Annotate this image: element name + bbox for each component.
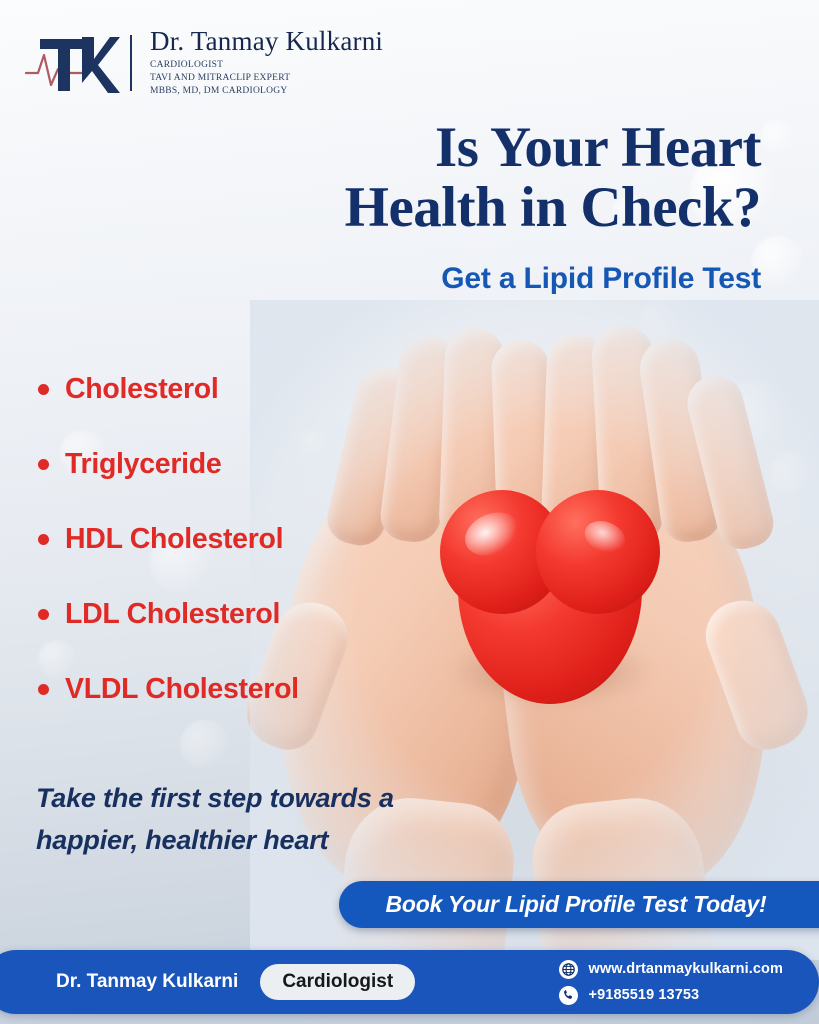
phone-contact[interactable]: +9185519 13753	[559, 986, 783, 1005]
footer-doctor-name: Dr. Tanmay Kulkarni	[56, 971, 238, 993]
bullet-dot-icon	[38, 384, 49, 395]
list-item: LDL Cholesterol	[38, 577, 438, 652]
list-item: VLDL Cholesterol	[38, 652, 438, 727]
list-item: Triglyceride	[38, 427, 438, 502]
list-item-label: VLDL Cholesterol	[65, 673, 299, 706]
headline-line-1: Is Your Heart	[241, 118, 761, 178]
tk-monogram-ecg-logo	[24, 29, 120, 97]
list-item-label: LDL Cholesterol	[65, 598, 280, 631]
tagline-line-2: happier, healthier heart	[36, 820, 556, 862]
list-item: Cholesterol	[38, 352, 438, 427]
cta-label: Book Your Lipid Profile Test Today!	[385, 891, 766, 918]
bullet-dot-icon	[38, 534, 49, 545]
list-item-label: HDL Cholesterol	[65, 523, 283, 556]
logo-divider	[130, 35, 132, 91]
page-subtitle: Get a Lipid Profile Test	[241, 262, 761, 296]
website-text: www.drtanmaykulkarni.com	[589, 961, 783, 977]
phone-icon	[559, 986, 578, 1005]
phone-text: +9185519 13753	[589, 987, 700, 1003]
list-item-label: Cholesterol	[65, 373, 218, 406]
website-contact[interactable]: www.drtanmaykulkarni.com	[559, 960, 783, 979]
footer-bar: Dr. Tanmay Kulkarni Cardiologist www.drt…	[0, 950, 819, 1014]
credential-line: MBBS, MD, DM CARDIOLOGY	[150, 85, 383, 98]
list-item-label: Triglyceride	[65, 448, 221, 481]
list-item: HDL Cholesterol	[38, 502, 438, 577]
tagline: Take the first step towards a happier, h…	[36, 778, 556, 862]
bullet-dot-icon	[38, 684, 49, 695]
bullet-dot-icon	[38, 609, 49, 620]
poster: Dr. Tanmay Kulkarni CARDIOLOGIST TAVI AN…	[0, 0, 819, 1024]
role-badge: Cardiologist	[260, 964, 415, 1000]
doctor-name: Dr. Tanmay Kulkarni	[150, 28, 383, 55]
lipid-test-list: Cholesterol Triglyceride HDL Cholesterol…	[38, 352, 438, 727]
headline-line-2: Health in Check?	[241, 178, 761, 238]
credential-line: TAVI AND MITRACLIP EXPERT	[150, 72, 383, 85]
book-test-cta-button[interactable]: Book Your Lipid Profile Test Today!	[339, 881, 819, 928]
credential-line: CARDIOLOGIST	[150, 59, 383, 72]
bullet-dot-icon	[38, 459, 49, 470]
contact-details: www.drtanmaykulkarni.com +9185519 13753	[559, 960, 783, 1005]
brand-logo: Dr. Tanmay Kulkarni CARDIOLOGIST TAVI AN…	[24, 28, 383, 98]
tagline-line-1: Take the first step towards a	[36, 778, 556, 820]
page-title: Is Your Heart Health in Check?	[241, 118, 761, 239]
doctor-credentials: CARDIOLOGIST TAVI AND MITRACLIP EXPERT M…	[150, 59, 383, 98]
globe-icon	[559, 960, 578, 979]
